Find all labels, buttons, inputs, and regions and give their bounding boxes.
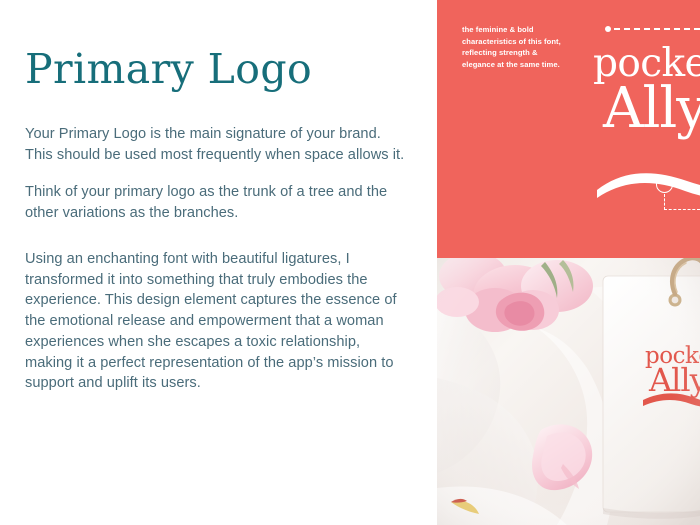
logo-word-bottom: Ally <box>603 84 700 134</box>
page-title: Primary Logo <box>25 48 407 91</box>
intro-paragraph: Your Primary Logo is the main signature … <box>25 124 407 165</box>
product-photo-panel: pocket Ally <box>437 258 700 525</box>
rationale-paragraph: Using an enchanting font with beautiful … <box>25 249 407 394</box>
logo-swash-icon <box>595 168 700 198</box>
brand-guideline-slide: Primary Logo Your Primary Logo is the ma… <box>0 0 700 525</box>
photo-mockup-image: pocket Ally <box>437 258 700 525</box>
annotation-note: the feminine & bold characteristics of t… <box>462 24 612 70</box>
leader-dot-icon <box>605 26 611 32</box>
metaphor-paragraph: Think of your primary logo as the trunk … <box>25 182 407 223</box>
logo-showcase-panel: the feminine & bold characteristics of t… <box>437 0 700 258</box>
showcase-column: the feminine & bold characteristics of t… <box>437 0 700 525</box>
guide-line-vertical <box>664 194 665 210</box>
leader-dashed-line <box>614 28 700 30</box>
annotation-line-2: characteristics of this font, <box>462 36 612 48</box>
annotation-line-4: elegance at the same time. <box>462 59 612 71</box>
annotation-line-1: the feminine & bold <box>462 24 612 36</box>
callout-circle-icon <box>656 176 673 193</box>
text-column: Primary Logo Your Primary Logo is the ma… <box>0 0 437 525</box>
guide-line-horizontal <box>664 209 700 210</box>
annotation-leader-line <box>605 28 700 31</box>
primary-logo-lockup: pocket Ally <box>593 46 700 134</box>
annotation-line-3: reflecting strength & <box>462 47 612 59</box>
